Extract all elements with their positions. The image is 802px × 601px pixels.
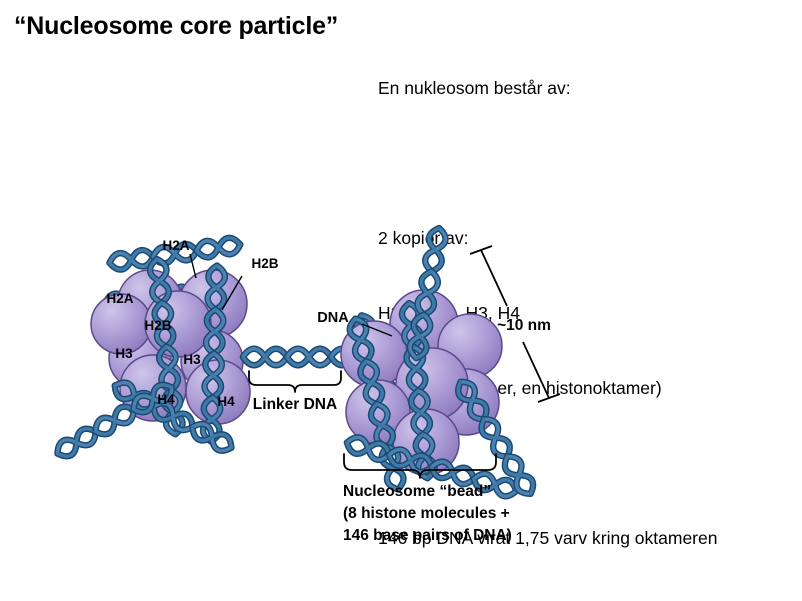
caption-line-2: (8 histone molecules + bbox=[343, 505, 510, 522]
label-linker-dna: Linker DNA bbox=[253, 396, 337, 413]
caption-line-3: 146 base pairs of DNA) bbox=[343, 527, 512, 544]
label-h3-left: H3 bbox=[115, 346, 133, 361]
caption-line-1: Nucleosome “bead” bbox=[343, 483, 491, 500]
spacer-1 bbox=[378, 151, 717, 176]
label-dna: DNA bbox=[317, 310, 349, 326]
label-h4-right: H4 bbox=[217, 394, 235, 409]
slide-canvas: “Nucleosome core particle” En nukleosom … bbox=[0, 0, 802, 574]
linker-dna-brace bbox=[249, 371, 341, 392]
label-h4-left: H4 bbox=[157, 392, 175, 407]
description-line-1: En nukleosom består av: bbox=[378, 76, 717, 101]
left-nucleosome bbox=[53, 236, 250, 460]
label-h2a-top: H2A bbox=[162, 238, 189, 253]
right-nucleosome bbox=[341, 227, 538, 499]
label-h2b-right: H2B bbox=[251, 256, 278, 271]
page-title: “Nucleosome core particle” bbox=[14, 12, 338, 41]
label-h2a-left: H2A bbox=[106, 291, 133, 306]
label-scale: ~10 nm bbox=[497, 317, 551, 334]
label-h3-mid: H3 bbox=[183, 352, 201, 367]
nucleosome-diagram: H2A H2A H2B H2B H3 H3 H4 H4 DNA Linker D… bbox=[0, 206, 802, 574]
label-h2b-left: H2B bbox=[144, 318, 171, 333]
